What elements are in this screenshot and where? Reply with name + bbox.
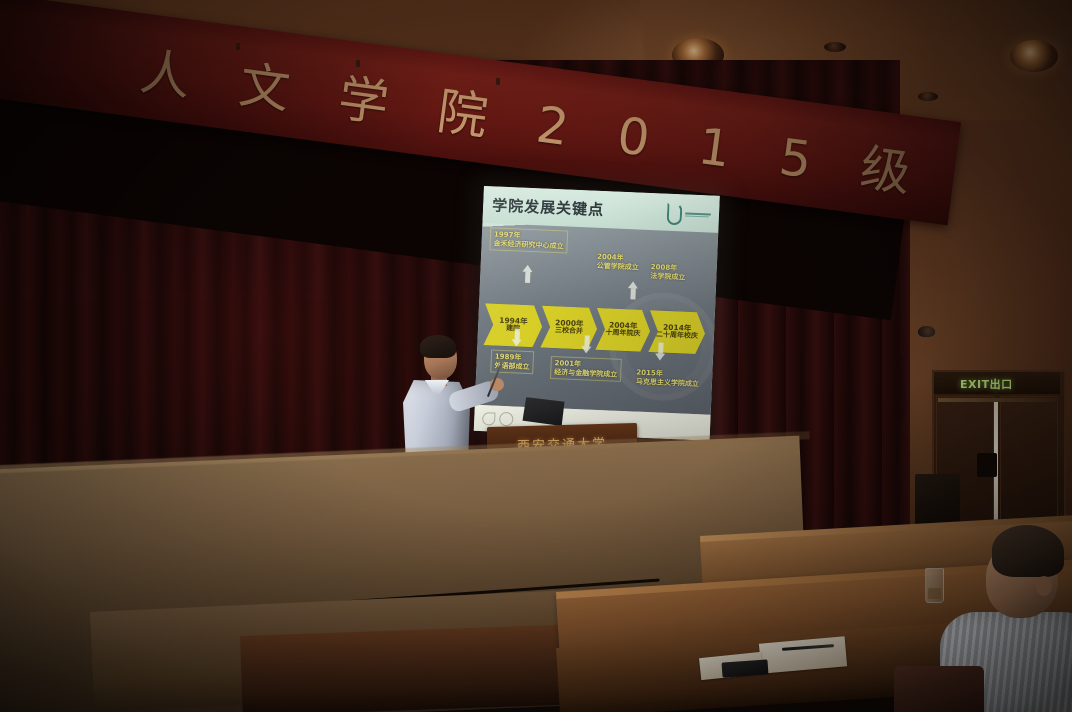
seat-cushion <box>894 666 984 712</box>
door-latch-icon <box>977 453 997 477</box>
banner-mount-icon <box>356 60 360 67</box>
audience-hair <box>992 525 1064 577</box>
arrow-down-icon <box>511 329 523 347</box>
audience-ear <box>1036 576 1052 596</box>
slide-note-above: 1997年 金禾经济研究中心成立 <box>489 228 568 254</box>
banner-mount-icon <box>236 43 240 50</box>
note-event: 金禾经济研究中心成立 <box>493 239 563 250</box>
arrow-up-icon <box>522 265 534 283</box>
water-bottle-icon <box>838 592 852 632</box>
note-event: 公管学院成立 <box>597 261 639 271</box>
logo-mark-icon <box>667 203 683 226</box>
auditorium-photo-scene: 人 文 学 院 2 0 1 5 级 新 生 入 学 教 育 学院发展关键点 <box>0 0 1072 712</box>
arrow-down-icon <box>655 343 667 361</box>
arrow-up-icon <box>627 281 639 299</box>
banner-mount-icon <box>496 78 500 85</box>
slide-note-above: 2008年 法学院成立 <box>646 260 690 285</box>
ceiling-downlight-icon <box>1010 40 1058 72</box>
projection-screen: 学院发展关键点 1997年 金禾经济研究中心成立 2004年 <box>474 186 720 441</box>
note-event: 法学院成立 <box>650 272 685 281</box>
presentation-slide: 学院发展关键点 1997年 金禾经济研究中心成立 2004年 <box>475 186 720 415</box>
slide-body: 1997年 金禾经济研究中心成立 2004年 公管学院成立 2008年 法学院成… <box>475 223 718 415</box>
phone-icon <box>722 659 769 677</box>
exit-sign: EXIT出口 <box>960 376 1013 392</box>
speaker-hair <box>420 335 456 358</box>
door-push-bar[interactable] <box>938 398 1056 402</box>
security-camera-icon <box>918 326 935 337</box>
seated-audience-member <box>900 520 1072 712</box>
timeline-event: 十周年院庆 <box>605 330 640 339</box>
timeline-event: 三校合并 <box>555 328 583 337</box>
slide-title: 学院发展关键点 <box>492 194 605 220</box>
arrow-down-icon <box>581 335 593 353</box>
water-bottle-icon <box>815 588 829 628</box>
laptop-icon <box>522 397 564 426</box>
slide-note-below: 2001年 经济与金融学院成立 <box>550 356 622 382</box>
ceiling-vent-icon <box>918 92 938 101</box>
screen-surface: 学院发展关键点 1997年 金禾经济研究中心成立 2004年 <box>474 186 720 441</box>
timeline-step: 2004年 十周年院庆 <box>595 308 651 352</box>
slide-note-above: 2004年 公管学院成立 <box>592 250 643 275</box>
logo-wordmark-icon <box>685 212 711 217</box>
note-event: 马克思主义学院成立 <box>636 377 699 388</box>
note-event: 经济与金融学院成立 <box>554 368 617 379</box>
timeline-event: 二十周年校庆 <box>656 332 698 341</box>
slide-note-below: 2015年 马克思主义学院成立 <box>632 366 704 392</box>
school-logo-icon <box>666 201 711 229</box>
ceiling-vent-icon <box>824 42 846 52</box>
